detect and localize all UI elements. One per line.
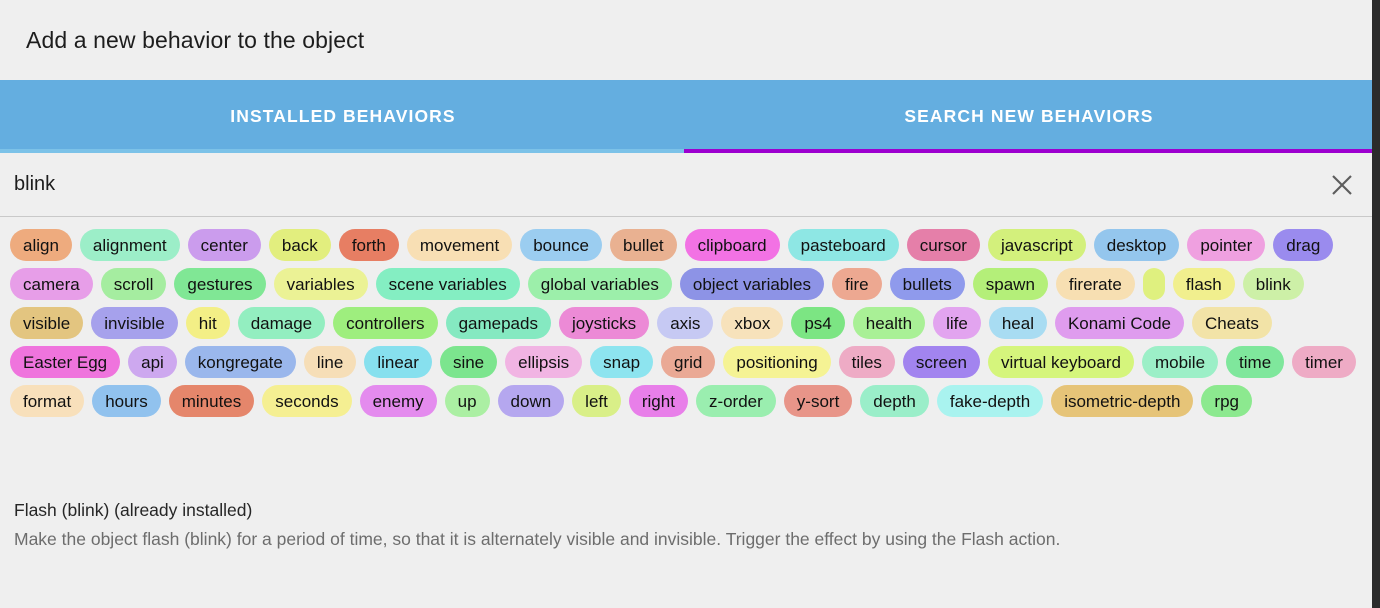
- tag-seconds[interactable]: seconds: [262, 385, 351, 417]
- tag-clipboard[interactable]: clipboard: [685, 229, 780, 261]
- tag-back[interactable]: back: [269, 229, 331, 261]
- tag-linear[interactable]: linear: [364, 346, 432, 378]
- tag-tiles[interactable]: tiles: [839, 346, 895, 378]
- tag-controllers[interactable]: controllers: [333, 307, 437, 339]
- tag-desktop[interactable]: desktop: [1094, 229, 1180, 261]
- tag-y-sort[interactable]: y-sort: [784, 385, 853, 417]
- tag-center[interactable]: center: [188, 229, 261, 261]
- tag-rpg[interactable]: rpg: [1201, 385, 1252, 417]
- tag-spawn[interactable]: spawn: [973, 268, 1048, 300]
- tag-sine[interactable]: sine: [440, 346, 497, 378]
- tab-search-new-behaviors[interactable]: SEARCH NEW BEHAVIORS: [686, 80, 1372, 153]
- page-title: Add a new behavior to the object: [26, 27, 364, 54]
- tag-cloud: alignalignmentcenterbackforthmovementbou…: [0, 217, 1372, 423]
- tag-variables[interactable]: variables: [274, 268, 368, 300]
- tag-axis[interactable]: axis: [657, 307, 713, 339]
- tag-time[interactable]: time: [1226, 346, 1284, 378]
- tag-hit[interactable]: hit: [186, 307, 230, 339]
- tag-gamepads[interactable]: gamepads: [446, 307, 551, 339]
- tag-javascript[interactable]: javascript: [988, 229, 1086, 261]
- tag-virtual-keyboard[interactable]: virtual keyboard: [988, 346, 1134, 378]
- tag-grid[interactable]: grid: [661, 346, 715, 378]
- tag-gestures[interactable]: gestures: [174, 268, 265, 300]
- tag-pointer[interactable]: pointer: [1187, 229, 1265, 261]
- dialog-header: Add a new behavior to the object: [0, 0, 1372, 80]
- tag-object-variables[interactable]: object variables: [680, 268, 824, 300]
- tag-alignment[interactable]: alignment: [80, 229, 180, 261]
- tag-down[interactable]: down: [498, 385, 565, 417]
- tag-minutes[interactable]: minutes: [169, 385, 255, 417]
- tag-easter-egg[interactable]: Easter Egg: [10, 346, 120, 378]
- tag-fake-depth[interactable]: fake-depth: [937, 385, 1043, 417]
- tag-ps4[interactable]: ps4: [791, 307, 844, 339]
- tag-movement[interactable]: movement: [407, 229, 512, 261]
- tag-screen[interactable]: screen: [903, 346, 980, 378]
- tag-global-variables[interactable]: global variables: [528, 268, 672, 300]
- tag-positioning[interactable]: positioning: [723, 346, 830, 378]
- tag-align[interactable]: align: [10, 229, 72, 261]
- tag-kongregate[interactable]: kongregate: [185, 346, 296, 378]
- tag-joysticks[interactable]: joysticks: [559, 307, 649, 339]
- tag-damage[interactable]: damage: [238, 307, 325, 339]
- clear-search-button[interactable]: [1312, 153, 1372, 217]
- tag-blink[interactable]: blink: [1243, 268, 1304, 300]
- tag-xbox[interactable]: xbox: [721, 307, 783, 339]
- tag-life[interactable]: life: [933, 307, 981, 339]
- tag-bullet[interactable]: bullet: [610, 229, 677, 261]
- tag-camera[interactable]: camera: [10, 268, 93, 300]
- tag-firerate[interactable]: firerate: [1056, 268, 1135, 300]
- tag-format[interactable]: format: [10, 385, 84, 417]
- tag-depth[interactable]: depth: [860, 385, 929, 417]
- tag-right[interactable]: right: [629, 385, 688, 417]
- tag-left[interactable]: left: [572, 385, 621, 417]
- tag-pasteboard[interactable]: pasteboard: [788, 229, 899, 261]
- search-input[interactable]: [0, 172, 1312, 197]
- behavior-description: Make the object flash (blink) for a peri…: [14, 528, 1358, 551]
- tag-bounce[interactable]: bounce: [520, 229, 602, 261]
- tab-bar: INSTALLED BEHAVIORS SEARCH NEW BEHAVIORS: [0, 80, 1372, 153]
- add-behavior-dialog: Add a new behavior to the object INSTALL…: [0, 0, 1372, 608]
- tag-z-order[interactable]: z-order: [696, 385, 776, 417]
- tag-konami-code[interactable]: Konami Code: [1055, 307, 1184, 339]
- tag-bullets[interactable]: bullets: [890, 268, 965, 300]
- tag-snap[interactable]: snap: [590, 346, 653, 378]
- tag-mobile[interactable]: mobile: [1142, 346, 1218, 378]
- tab-installed-behaviors[interactable]: INSTALLED BEHAVIORS: [0, 80, 686, 153]
- search-bar: [0, 153, 1372, 217]
- tag-hours[interactable]: hours: [92, 385, 161, 417]
- tag-ellipsis[interactable]: ellipsis: [505, 346, 582, 378]
- tag-drag[interactable]: drag: [1273, 229, 1333, 261]
- tab-search-new-behaviors-label: SEARCH NEW BEHAVIORS: [904, 106, 1153, 127]
- tag-health[interactable]: health: [853, 307, 925, 339]
- tag-flash[interactable]: flash: [1173, 268, 1235, 300]
- tag-up[interactable]: up: [445, 385, 490, 417]
- tag-line[interactable]: line: [304, 346, 356, 378]
- tag-blank[interactable]: [1143, 268, 1165, 300]
- close-icon: [1329, 172, 1355, 198]
- tag-cheats[interactable]: Cheats: [1192, 307, 1272, 339]
- tag-enemy[interactable]: enemy: [360, 385, 437, 417]
- tag-forth[interactable]: forth: [339, 229, 399, 261]
- tag-cursor[interactable]: cursor: [907, 229, 980, 261]
- tag-visible[interactable]: visible: [10, 307, 83, 339]
- behavior-title: Flash (blink) (already installed): [14, 500, 1358, 521]
- tag-fire[interactable]: fire: [832, 268, 882, 300]
- behavior-details: Flash (blink) (already installed) Make t…: [0, 500, 1372, 551]
- tag-timer[interactable]: timer: [1292, 346, 1356, 378]
- window-edge: [1372, 0, 1380, 608]
- tag-invisible[interactable]: invisible: [91, 307, 177, 339]
- tag-api[interactable]: api: [128, 346, 177, 378]
- tag-isometric-depth[interactable]: isometric-depth: [1051, 385, 1193, 417]
- tag-scroll[interactable]: scroll: [101, 268, 167, 300]
- tag-heal[interactable]: heal: [989, 307, 1047, 339]
- tab-installed-behaviors-label: INSTALLED BEHAVIORS: [230, 106, 455, 127]
- tag-scene-variables[interactable]: scene variables: [376, 268, 520, 300]
